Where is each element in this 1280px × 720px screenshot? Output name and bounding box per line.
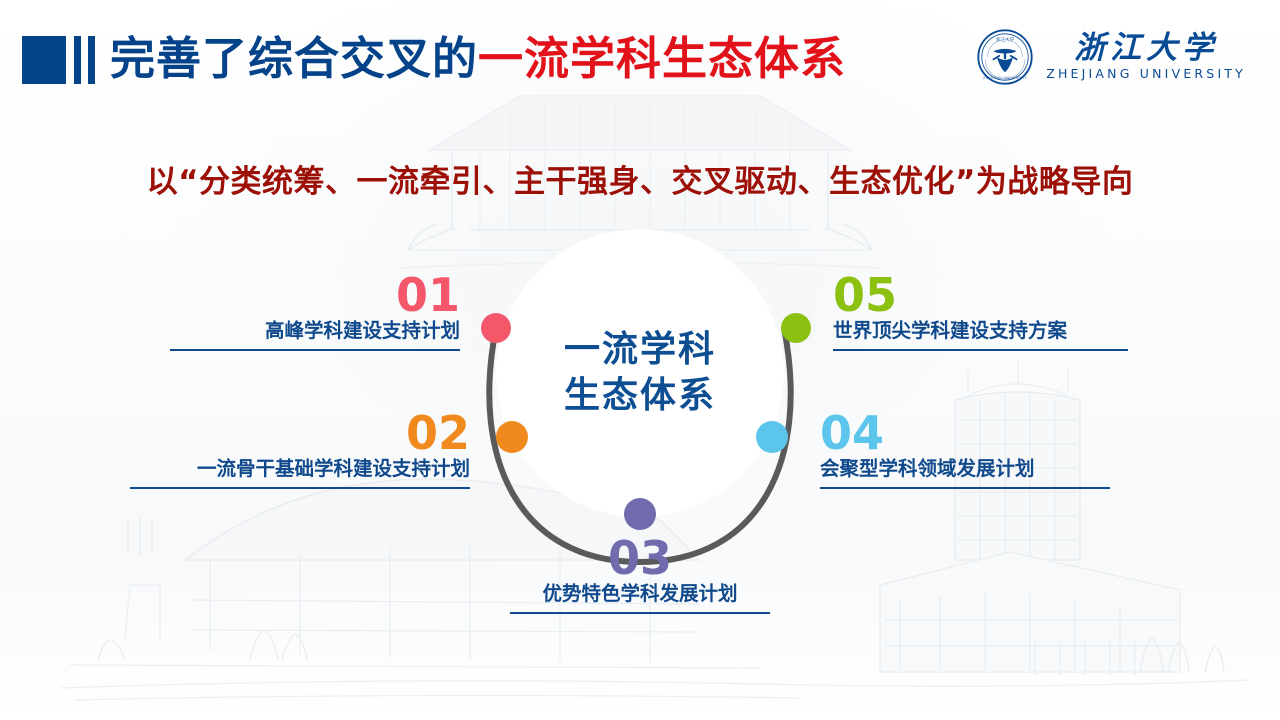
plan-label-05: 世界顶尖学科建设支持方案 [833, 318, 1128, 349]
plan-label-01: 高峰学科建设支持计划 [170, 318, 460, 349]
plan-underline-01 [170, 349, 460, 351]
ecosystem-diagram: 一流学科 生态体系 01 高峰学科建设支持计划 02 一流骨干基础学科建设支持计… [0, 210, 1280, 680]
node-dot-04[interactable] [756, 421, 788, 453]
university-logo: 浙江大学 ZHEJIANG UNIVERSITY 浙江大学 ZHEJIANG U… [976, 28, 1246, 86]
svg-text:ZHEJIANG UNIVERSITY: ZHEJIANG UNIVERSITY [983, 76, 1028, 80]
plan-underline-05 [833, 349, 1128, 351]
plan-number-02: 02 [130, 410, 470, 456]
header-accent-bar-1 [74, 36, 81, 84]
node-dot-05[interactable] [781, 313, 811, 343]
zhejiang-university-seal-icon: 浙江大学 ZHEJIANG UNIVERSITY [976, 28, 1034, 86]
plan-item-05[interactable]: 05 世界顶尖学科建设支持方案 [833, 272, 1128, 351]
plan-label-02: 一流骨干基础学科建设支持计划 [130, 456, 470, 487]
page-title: 完善了综合交叉的一流学科生态体系 [110, 30, 846, 88]
plan-label-04: 会聚型学科领域发展计划 [820, 456, 1110, 487]
plan-underline-04 [820, 487, 1110, 489]
center-label-line2: 生态体系 [564, 373, 716, 419]
plan-number-04: 04 [820, 410, 1110, 456]
plan-underline-03 [510, 612, 770, 614]
strategy-subtitle: 以“分类统筹、一流牵引、主干强身、交叉驱动、生态优化”为战略导向 [0, 156, 1280, 201]
plan-item-01[interactable]: 01 高峰学科建设支持计划 [170, 272, 460, 351]
header-accent-block [22, 36, 66, 84]
slide-root: 完善了综合交叉的一流学科生态体系 浙江大学 ZHEJIANG UNIVERSIT… [0, 0, 1280, 720]
plan-item-04[interactable]: 04 会聚型学科领域发展计划 [820, 410, 1110, 489]
plan-number-03: 03 [510, 535, 770, 581]
logo-name-en: ZHEJIANG UNIVERSITY [1046, 68, 1246, 81]
node-dot-01[interactable] [481, 313, 511, 343]
plan-number-05: 05 [833, 272, 1128, 318]
plan-label-03: 优势特色学科发展计划 [510, 581, 770, 612]
page-title-primary: 完善了综合交叉的 [110, 32, 478, 85]
svg-text:浙江大学: 浙江大学 [996, 36, 1015, 43]
slide-header: 完善了综合交叉的一流学科生态体系 浙江大学 ZHEJIANG UNIVERSIT… [0, 0, 1280, 112]
logo-wordmark: 浙江大学 ZHEJIANG UNIVERSITY [1046, 33, 1246, 81]
node-dot-03[interactable] [624, 498, 656, 530]
page-title-highlight: 一流学科生态体系 [478, 32, 846, 85]
logo-name-cn: 浙江大学 [1074, 33, 1218, 64]
node-dot-02[interactable] [496, 421, 528, 453]
plan-item-02[interactable]: 02 一流骨干基础学科建设支持计划 [130, 410, 470, 489]
plan-item-03[interactable]: 03 优势特色学科发展计划 [510, 535, 770, 614]
center-label-line1: 一流学科 [564, 327, 716, 373]
header-accent-bar-2 [88, 36, 95, 84]
plan-underline-02 [130, 487, 470, 489]
center-label: 一流学科 生态体系 [497, 230, 783, 516]
plan-number-01: 01 [170, 272, 460, 318]
